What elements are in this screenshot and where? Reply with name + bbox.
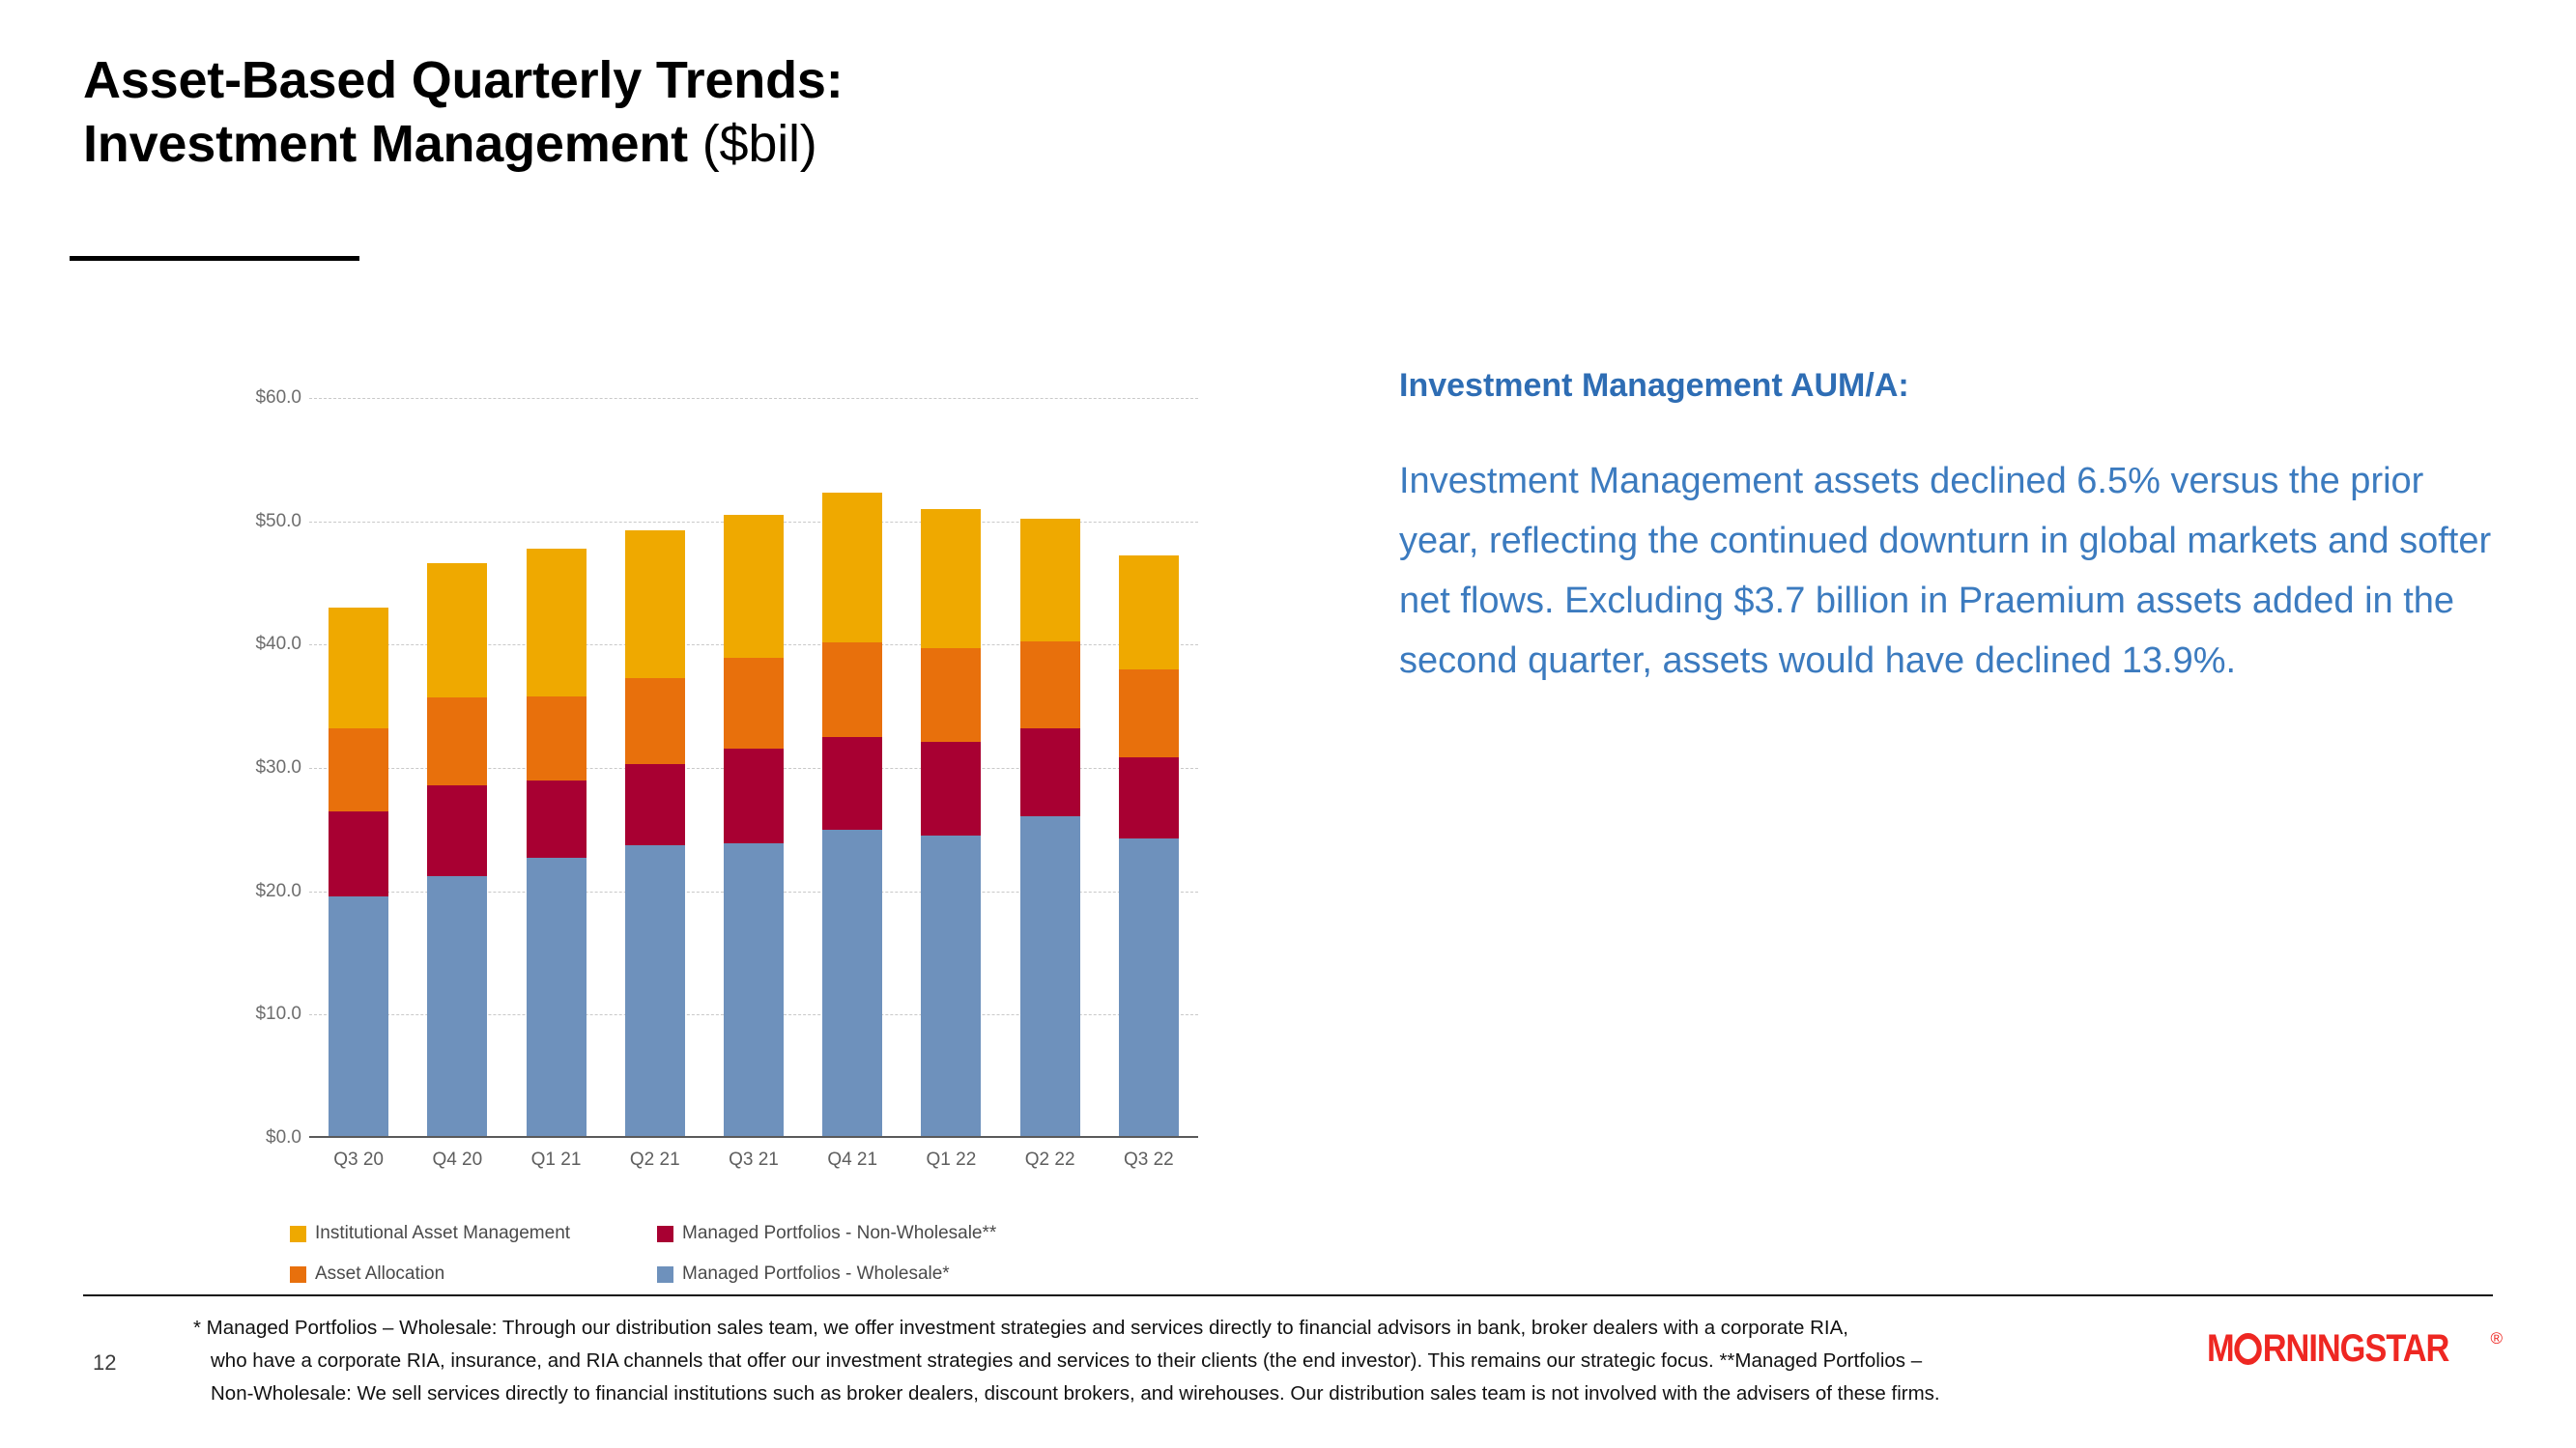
bar-segment[interactable]	[822, 830, 882, 1138]
legend-item[interactable]: Managed Portfolios - Wholesale*	[657, 1254, 1024, 1294]
bar-segment[interactable]	[427, 785, 487, 876]
bar-segment[interactable]	[625, 530, 685, 678]
bar-segment[interactable]	[921, 648, 981, 742]
legend-swatch-icon	[290, 1226, 306, 1242]
legend-label: Asset Allocation	[315, 1263, 444, 1285]
y-axis-tick-label: $10.0	[189, 1004, 301, 1025]
bar-segment[interactable]	[921, 742, 981, 836]
slide: Asset-Based Quarterly Trends: Investment…	[0, 0, 2576, 1448]
bar-segment[interactable]	[427, 876, 487, 1138]
logo-rest: RNINGSTAR	[2263, 1327, 2449, 1370]
y-axis-tick-label: $0.0	[189, 1127, 301, 1149]
bar-column[interactable]	[427, 398, 487, 1138]
bar-segment[interactable]	[1020, 728, 1080, 816]
bar-segment[interactable]	[921, 509, 981, 648]
bar-column[interactable]	[625, 398, 685, 1138]
registered-trademark-icon: ®	[2490, 1329, 2503, 1349]
x-axis-tick-label: Q4 21	[822, 1150, 882, 1171]
bar-segment[interactable]	[625, 845, 685, 1138]
bar-column[interactable]	[1020, 398, 1080, 1138]
bar-segment[interactable]	[1119, 838, 1179, 1138]
bar-segment[interactable]	[1020, 816, 1080, 1138]
legend-label: Managed Portfolios - Non-Wholesale**	[682, 1223, 996, 1244]
commentary-panel: Investment Management AUM/A: Investment …	[1399, 367, 2501, 691]
x-axis-tick-label: Q3 21	[724, 1150, 784, 1171]
y-axis-tick-label: $20.0	[189, 881, 301, 902]
bar-segment[interactable]	[1119, 555, 1179, 668]
bar-segment[interactable]	[822, 737, 882, 830]
commentary-body: Investment Management assets declined 6.…	[1399, 451, 2501, 691]
footnote-line: who have a corporate RIA, insurance, and…	[193, 1345, 2135, 1377]
bar-segment[interactable]	[921, 836, 981, 1138]
bar-segment[interactable]	[329, 896, 388, 1138]
bar-column[interactable]	[329, 398, 388, 1138]
bar-segment[interactable]	[527, 858, 587, 1138]
legend-item[interactable]: Institutional Asset Management	[290, 1213, 657, 1254]
legend-swatch-icon	[657, 1226, 673, 1242]
bar-column[interactable]	[921, 398, 981, 1138]
bar-segment[interactable]	[1119, 757, 1179, 838]
morningstar-logo: MRNINGSTAR ®	[2207, 1329, 2503, 1368]
x-axis-tick-label: Q1 22	[921, 1150, 981, 1171]
legend-item[interactable]: Managed Portfolios - Non-Wholesale**	[657, 1213, 1024, 1254]
bar-segment[interactable]	[625, 678, 685, 764]
legend-label: Institutional Asset Management	[315, 1223, 570, 1244]
y-axis-tick-label: $40.0	[189, 634, 301, 655]
legend-item[interactable]: Asset Allocation	[290, 1254, 657, 1294]
chart-legend: Institutional Asset ManagementManaged Po…	[290, 1213, 1024, 1294]
title-line-2-light: ($bil)	[688, 115, 817, 173]
x-axis-baseline	[309, 1136, 1198, 1138]
bar-segment[interactable]	[1020, 641, 1080, 729]
footer-divider	[83, 1294, 2493, 1296]
logo-wordmark: MRNINGSTAR	[2207, 1329, 2448, 1368]
title-line-2-strong: Investment Management	[83, 115, 688, 173]
x-axis-tick-label: Q4 20	[427, 1150, 487, 1171]
bar-column[interactable]	[527, 398, 587, 1138]
bar-segment[interactable]	[822, 642, 882, 737]
y-axis-labels: $60.0$50.0$40.0$30.0$20.0$10.0$0.0	[174, 398, 301, 1138]
page-number: 12	[93, 1350, 116, 1376]
bar-segment[interactable]	[625, 764, 685, 845]
bar-column[interactable]	[724, 398, 784, 1138]
commentary-heading: Investment Management AUM/A:	[1399, 367, 2501, 405]
bar-segment[interactable]	[329, 728, 388, 811]
bar-segment[interactable]	[724, 515, 784, 658]
bar-segment[interactable]	[527, 549, 587, 696]
bar-segment[interactable]	[329, 811, 388, 896]
footnote-text: * Managed Portfolios – Wholesale: Throug…	[193, 1312, 2135, 1410]
bar-segment[interactable]	[527, 781, 587, 858]
logo-ring-icon	[2235, 1333, 2262, 1365]
chart-plot-area	[309, 398, 1198, 1138]
footnote-line: Non-Wholesale: We sell services directly…	[193, 1377, 2135, 1410]
bar-segment[interactable]	[724, 658, 784, 748]
bar-segment[interactable]	[1119, 669, 1179, 757]
chart-bars	[309, 398, 1198, 1138]
bar-segment[interactable]	[527, 696, 587, 781]
legend-swatch-icon	[290, 1266, 306, 1283]
title-line-1: Asset-Based Quarterly Trends:	[83, 48, 843, 112]
legend-label: Managed Portfolios - Wholesale*	[682, 1263, 950, 1285]
bar-segment[interactable]	[822, 493, 882, 641]
bar-segment[interactable]	[329, 608, 388, 728]
x-axis-tick-label: Q2 21	[625, 1150, 685, 1171]
bar-column[interactable]	[1119, 398, 1179, 1138]
x-axis-tick-label: Q3 20	[329, 1150, 388, 1171]
x-axis-tick-label: Q1 21	[527, 1150, 587, 1171]
page-title: Asset-Based Quarterly Trends: Investment…	[83, 48, 843, 176]
bar-segment[interactable]	[724, 843, 784, 1138]
stacked-bar-chart: $60.0$50.0$40.0$30.0$20.0$10.0$0.0 Q3 20…	[174, 377, 1256, 1150]
bar-column[interactable]	[822, 398, 882, 1138]
y-axis-tick-label: $50.0	[189, 511, 301, 532]
x-axis-labels: Q3 20Q4 20Q1 21Q2 21Q3 21Q4 21Q1 22Q2 22…	[309, 1150, 1198, 1171]
y-axis-tick-label: $60.0	[189, 387, 301, 409]
bar-segment[interactable]	[1020, 519, 1080, 640]
bar-segment[interactable]	[724, 749, 784, 843]
title-underline-rule	[70, 256, 359, 261]
logo-letter-m: M	[2207, 1327, 2234, 1370]
legend-swatch-icon	[657, 1266, 673, 1283]
footnote-line: * Managed Portfolios – Wholesale: Throug…	[193, 1312, 2135, 1345]
y-axis-tick-label: $30.0	[189, 757, 301, 779]
bar-segment[interactable]	[427, 697, 487, 785]
x-axis-tick-label: Q2 22	[1020, 1150, 1080, 1171]
x-axis-tick-label: Q3 22	[1119, 1150, 1179, 1171]
bar-segment[interactable]	[427, 563, 487, 697]
